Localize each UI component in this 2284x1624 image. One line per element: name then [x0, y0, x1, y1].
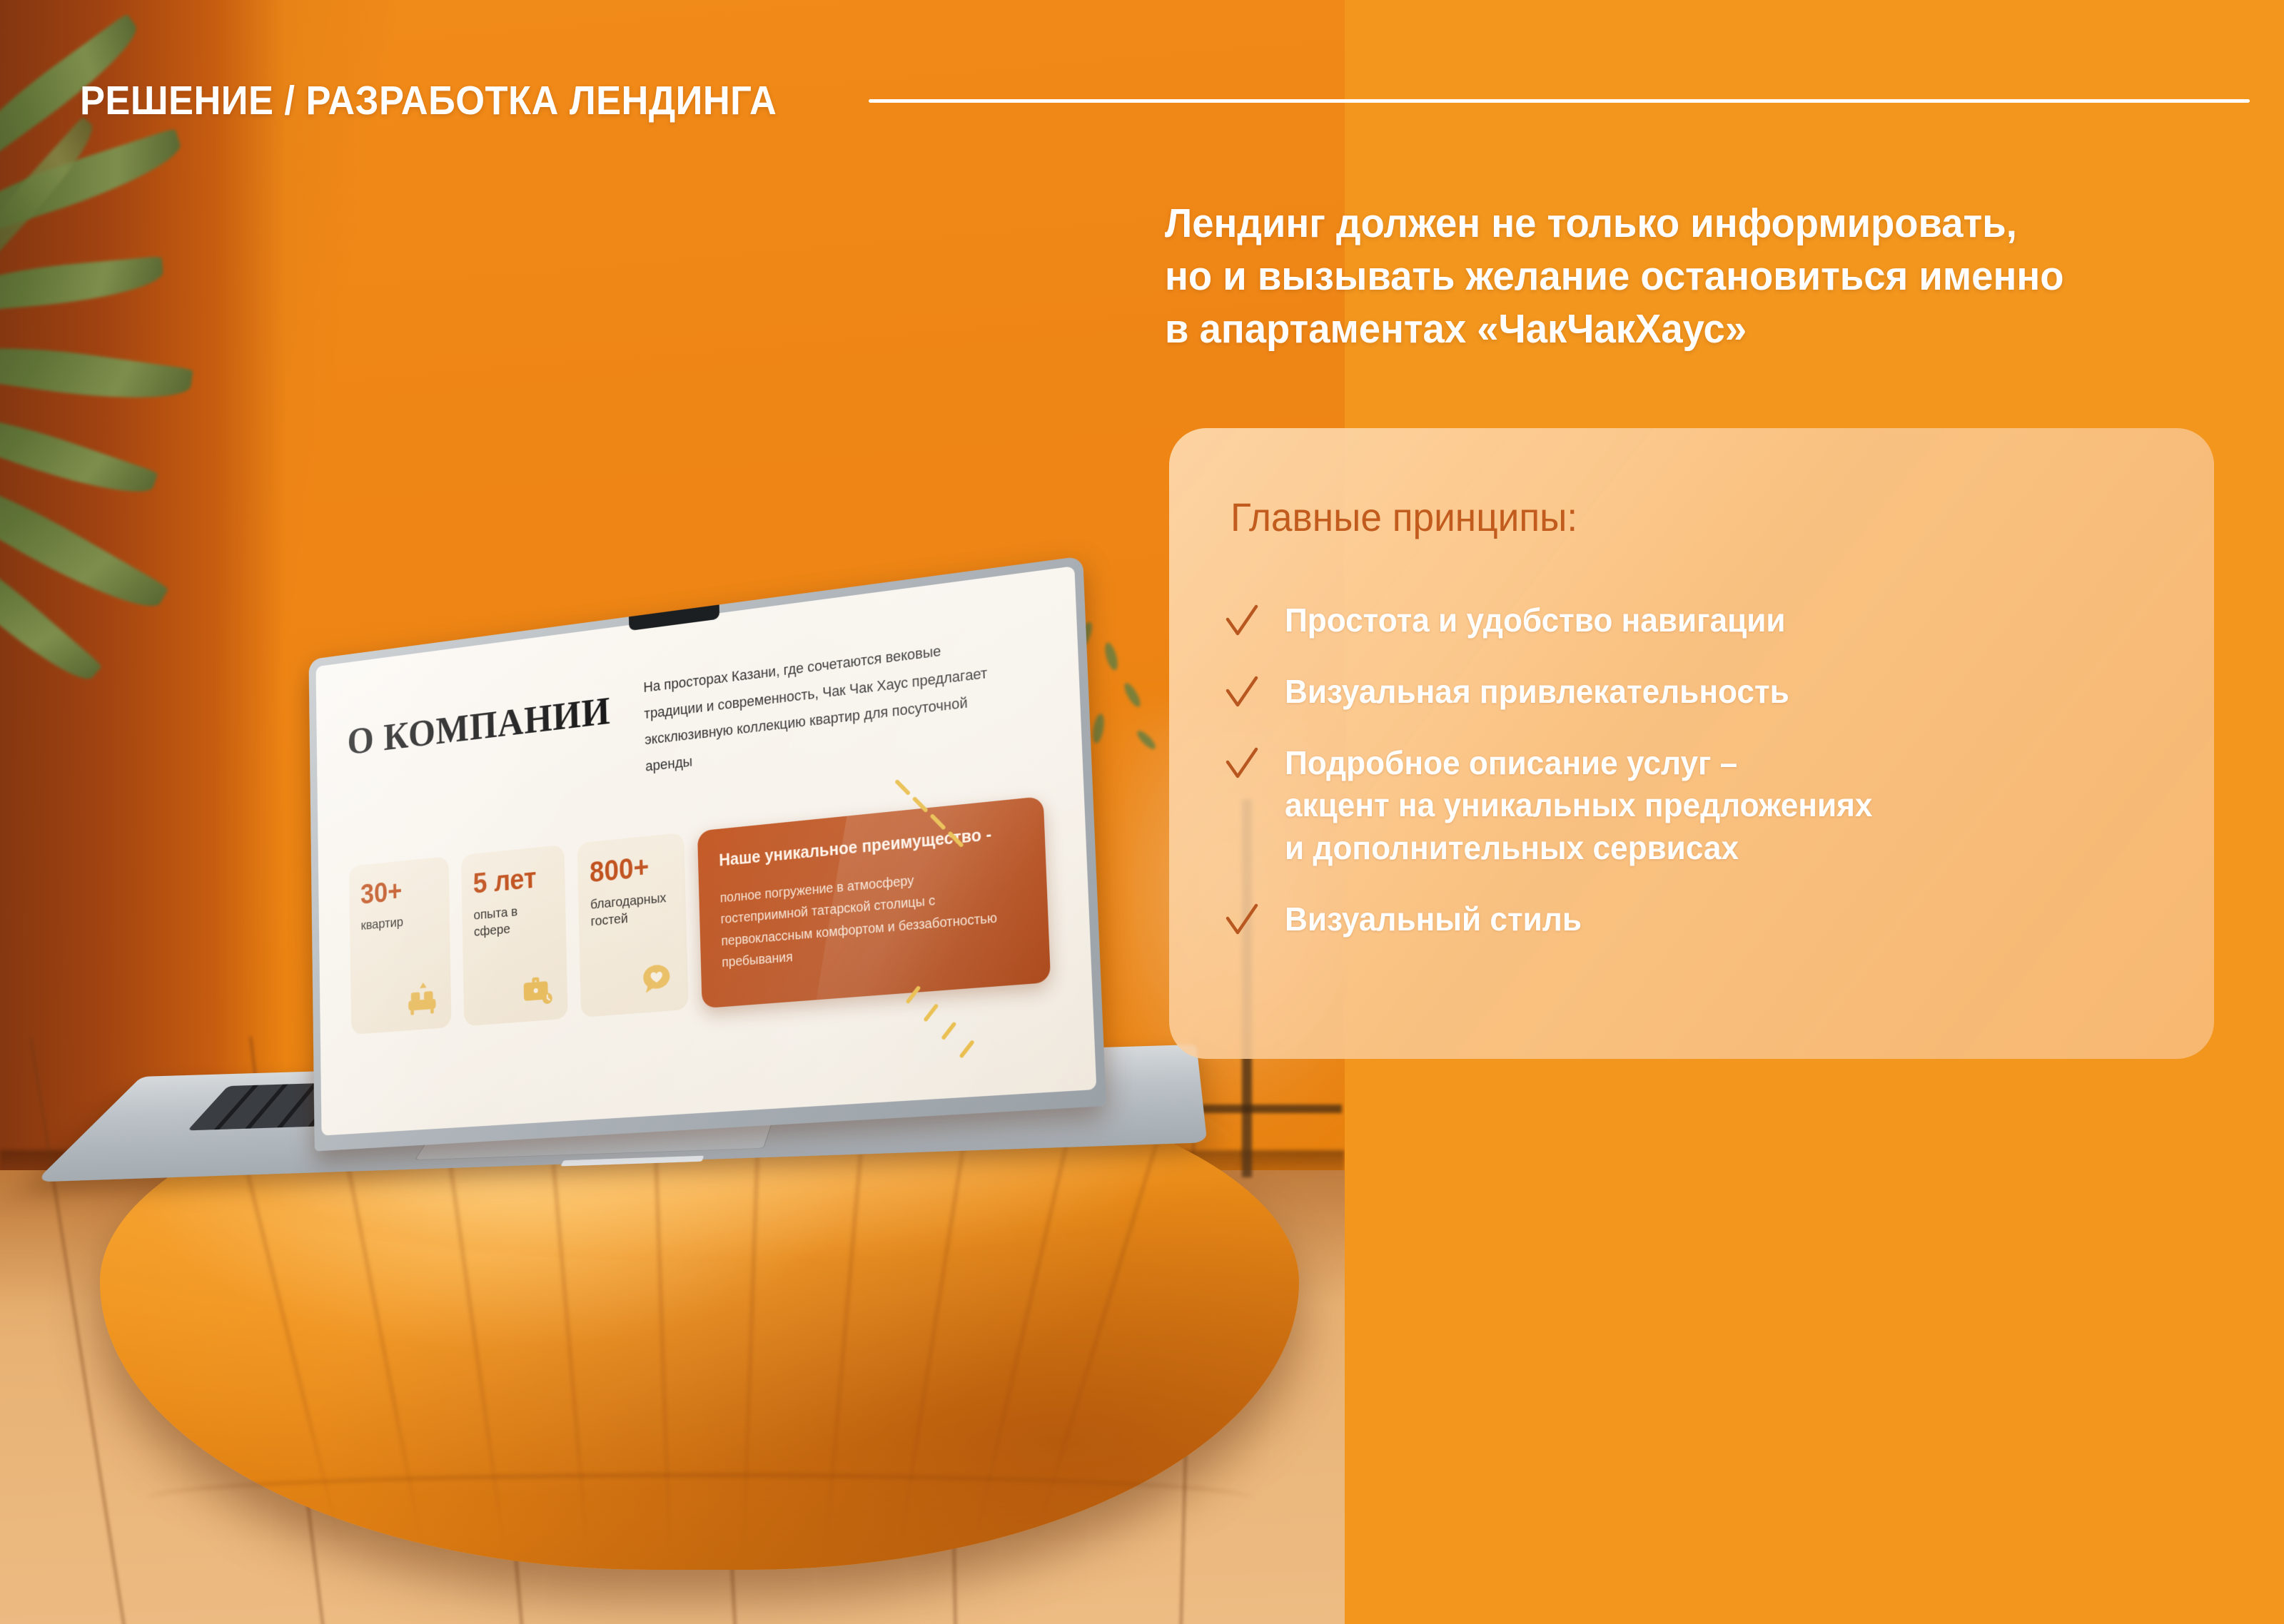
- sofa-icon: [405, 978, 439, 1018]
- principles-list: Простота и удобство навигации Визуальная…: [1225, 599, 2174, 941]
- stat-card: 800+ благодарных гостей: [577, 832, 689, 1017]
- stat-card: 5 лет опыта в сфере: [461, 844, 568, 1026]
- stat-value: 5 лет: [473, 863, 553, 898]
- lid-latch: [561, 1156, 704, 1167]
- lead-line-3: в апартаментах «ЧакЧакХаус»: [1165, 303, 2188, 355]
- lead-line-2: но и вызывать желание остановиться именн…: [1165, 250, 2188, 303]
- list-item-line: Простота и удобство навигации: [1285, 599, 1786, 642]
- lead-paragraph: Лендинг должен не только информировать, …: [1165, 197, 2188, 355]
- check-icon: [1225, 674, 1259, 712]
- stat-label: опыта в сфере: [473, 900, 554, 940]
- lead-line-1: Лендинг должен не только информировать,: [1165, 197, 2188, 250]
- check-icon: [1225, 602, 1259, 641]
- laptop-lid: О КОМПАНИИ На просторах Казани, где соче…: [309, 556, 1106, 1151]
- list-item: Подробное описание услуг – акцент на уни…: [1225, 742, 2174, 870]
- screen-paragraph: На просторах Казани, где сочетаются веко…: [643, 631, 1000, 780]
- briefcase-icon: [520, 968, 555, 1009]
- stat-value: 30+: [360, 874, 438, 909]
- advantage-card: Наше уникальное преимущество - полное по…: [697, 796, 1051, 1009]
- stat-card-row: 30+ квартир 5 лет опыта в сфере: [349, 796, 1051, 1035]
- laptop-mockup: О КОМПАНИИ На просторах Казани, где соче…: [150, 542, 1206, 1256]
- header-divider: [869, 99, 2250, 103]
- list-item: Простота и удобство навигации: [1225, 599, 2174, 642]
- advantage-body: полное погружение в атмосферу гостеприим…: [719, 862, 999, 973]
- list-item-line: Визуальная привлекательность: [1285, 671, 1789, 714]
- stat-label: квартир: [360, 910, 438, 934]
- advantage-title: Наше уникальное преимущество -: [719, 822, 1022, 871]
- principles-card-title: Главные принципы:: [1231, 494, 1577, 540]
- slide-header: РЕШЕНИЕ / РАЗРАБОТКА ЛЕНДИНГА: [80, 77, 2250, 124]
- speech-heart-icon: [639, 959, 675, 1000]
- stat-card: 30+ квартир: [349, 856, 452, 1035]
- list-item-text: Подробное описание услуг – акцент на уни…: [1285, 742, 1872, 870]
- list-item-text: Визуальный стиль: [1285, 898, 1582, 941]
- stat-label: благодарных гостей: [590, 888, 674, 930]
- list-item: Визуальная привлекательность: [1225, 671, 2174, 714]
- list-item-line: и дополнительных сервисах: [1285, 827, 1872, 870]
- laptop-screen: О КОМПАНИИ На просторах Казани, где соче…: [315, 566, 1096, 1135]
- list-item-line: Подробное описание услуг –: [1285, 742, 1872, 785]
- list-item-text: Простота и удобство навигации: [1285, 599, 1786, 642]
- principles-card: Главные принципы: Простота и удобство на…: [1169, 428, 2214, 1059]
- check-icon: [1225, 745, 1259, 783]
- list-item-text: Визуальная привлекательность: [1285, 671, 1789, 714]
- list-item-line: акцент на уникальных предложениях: [1285, 784, 1872, 827]
- screen-page-title: О КОМПАНИИ: [347, 688, 611, 764]
- page-title: РЕШЕНИЕ / РАЗРАБОТКА ЛЕНДИНГА: [80, 77, 777, 124]
- slide-root: О КОМПАНИИ На просторах Казани, где соче…: [0, 0, 2284, 1624]
- list-item: Визуальный стиль: [1225, 898, 2174, 941]
- check-icon: [1225, 901, 1259, 940]
- list-item-line: Визуальный стиль: [1285, 898, 1582, 941]
- background-photo: О КОМПАНИИ На просторах Казани, где соче…: [0, 0, 1345, 1624]
- stat-value: 800+: [590, 851, 673, 887]
